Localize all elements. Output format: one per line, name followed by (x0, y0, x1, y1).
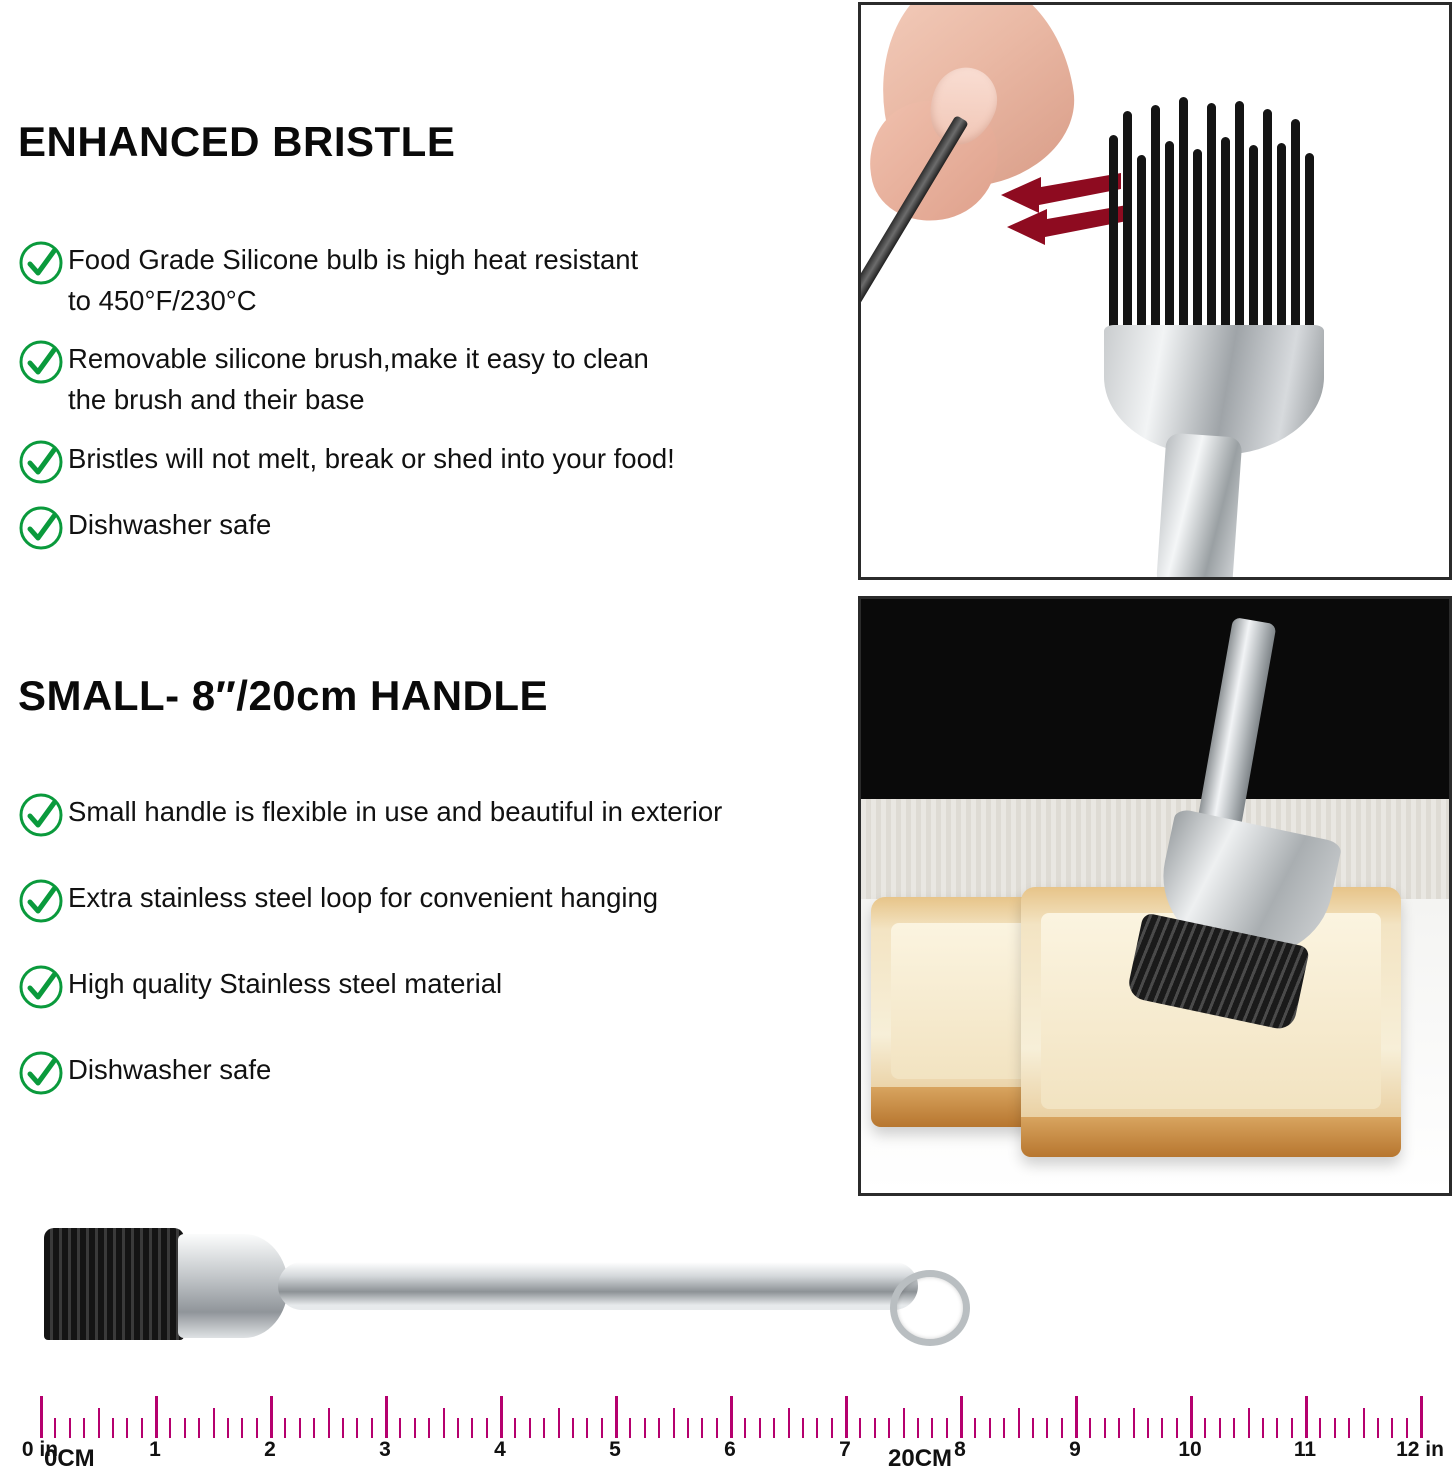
ruler-tick (1075, 1396, 1078, 1438)
hanging-loop (890, 1270, 970, 1346)
ruler-tick (917, 1418, 919, 1438)
ruler-tick (241, 1418, 243, 1438)
ruler-tick (98, 1408, 100, 1438)
stainless-handle (1156, 433, 1243, 580)
dark-background (861, 599, 1449, 809)
ruler-tick (644, 1418, 646, 1438)
ruler-tick (371, 1418, 373, 1438)
section-title-enhanced-bristle: ENHANCED BRISTLE (18, 118, 455, 166)
check-circle-icon (14, 790, 68, 840)
list-item-label: Bristles will not melt, break or shed in… (68, 437, 675, 480)
ruler-tick (673, 1408, 675, 1438)
ruler-inch-label: 11 (1294, 1438, 1316, 1462)
toast-crumb (891, 923, 1031, 1079)
list-item-label: Extra stainless steel loop for convenien… (68, 876, 658, 919)
ruler-tick (514, 1418, 516, 1438)
ruler-tick (198, 1418, 200, 1438)
silicone-bristles (1109, 93, 1317, 341)
list-item: Bristles will not melt, break or shed in… (14, 437, 675, 487)
check-circle-icon (14, 876, 68, 926)
ruler-tick (601, 1418, 603, 1438)
list-item-label: Small handle is flexible in use and beau… (68, 790, 722, 833)
ruler-tick (443, 1408, 445, 1438)
ruler-tick (1046, 1418, 1048, 1438)
ruler-tick (1147, 1418, 1149, 1438)
ruler-tick (169, 1418, 171, 1438)
ruler-tick (1276, 1418, 1278, 1438)
ruler-tick (1032, 1418, 1034, 1438)
ruler-tick (558, 1408, 560, 1438)
ruler-tick (112, 1418, 114, 1438)
feature-list-enhanced-bristle: Food Grade Silicone bulb is high heat re… (14, 238, 675, 569)
product-with-ruler: 0 in123456789101112 in 0CM 20CM (0, 1200, 1454, 1481)
ruler-tick (1334, 1418, 1336, 1438)
list-item-label: Dishwasher safe (68, 503, 271, 546)
ruler-tick (730, 1396, 733, 1438)
ruler-tick (1018, 1408, 1020, 1438)
ruler-tick (69, 1418, 71, 1438)
list-item-label: Food Grade Silicone bulb is high heat re… (68, 238, 638, 321)
ruler-tick (974, 1418, 976, 1438)
list-item: Small handle is flexible in use and beau… (14, 790, 722, 840)
stainless-brush-head (178, 1234, 288, 1338)
ruler-tick (759, 1418, 761, 1438)
ruler-tick (471, 1418, 473, 1438)
check-circle-icon (14, 337, 68, 387)
ruler-inch-label: 5 (609, 1438, 621, 1462)
ruler-tick (256, 1418, 258, 1438)
cm-label-20: 20CM (888, 1445, 952, 1473)
ruler-inch-label: 9 (1069, 1438, 1081, 1462)
section-title-small-handle: SMALL- 8″/20cm HANDLE (18, 672, 548, 720)
toast-crust (1021, 1117, 1401, 1157)
ruler-tick (572, 1418, 574, 1438)
ruler-tick (213, 1408, 215, 1438)
ruler-tick (83, 1418, 85, 1438)
list-item: Dishwasher safe (14, 503, 675, 553)
ruler-tick (155, 1396, 158, 1438)
ruler-tick (1061, 1418, 1063, 1438)
ruler-inch-label: 4 (494, 1438, 506, 1462)
ruler-tick (687, 1418, 689, 1438)
ruler-tick (385, 1396, 388, 1438)
check-circle-icon (14, 503, 68, 553)
ruler-tick (1391, 1418, 1393, 1438)
ruler-tick (586, 1418, 588, 1438)
ruler-tick (615, 1396, 618, 1438)
product-photo-brushing-toast (858, 596, 1452, 1196)
ruler-tick (1190, 1396, 1193, 1438)
ruler-tick (1363, 1408, 1365, 1438)
ruler-tick (126, 1418, 128, 1438)
ruler-inch-label: 2 (264, 1438, 276, 1462)
ruler-tick (845, 1396, 848, 1438)
ruler-tick (1133, 1408, 1135, 1438)
ruler-tick (141, 1418, 143, 1438)
ruler-tick (1089, 1418, 1091, 1438)
list-item-label: Dishwasher safe (68, 1048, 271, 1091)
ruler-tick (946, 1418, 948, 1438)
list-item-label: Removable silicone brush,make it easy to… (68, 337, 649, 420)
ruler-inch-label: 12 in (1396, 1438, 1444, 1462)
ruler-tick (931, 1418, 933, 1438)
product-photo-bristle-removal (858, 2, 1452, 580)
ruler-scale: 0 in123456789101112 in (40, 1378, 1420, 1438)
ruler-tick (227, 1418, 229, 1438)
ruler-tick (989, 1418, 991, 1438)
ruler-tick (1291, 1418, 1293, 1438)
ruler-tick (1233, 1418, 1235, 1438)
list-item: Removable silicone brush,make it easy to… (14, 337, 675, 420)
list-item: Food Grade Silicone bulb is high heat re… (14, 238, 675, 321)
ruler-tick (773, 1418, 775, 1438)
list-item: Extra stainless steel loop for convenien… (14, 876, 722, 926)
ruler-tick (1161, 1418, 1163, 1438)
silicone-bristles (44, 1228, 184, 1340)
ruler-tick (529, 1418, 531, 1438)
ruler-tick (859, 1418, 861, 1438)
ruler-tick (428, 1418, 430, 1438)
ruler-tick (888, 1418, 890, 1438)
check-circle-icon (14, 962, 68, 1012)
ruler-tick (716, 1418, 718, 1438)
ruler-tick (1003, 1418, 1005, 1438)
ruler-tick (270, 1396, 273, 1438)
check-circle-icon (14, 238, 68, 288)
ruler-tick (543, 1418, 545, 1438)
ruler-tick (299, 1418, 301, 1438)
list-item: Dishwasher safe (14, 1048, 722, 1098)
ruler-tick (1406, 1418, 1408, 1438)
stainless-handle (278, 1262, 918, 1310)
ruler-tick (1118, 1418, 1120, 1438)
ruler-tick (457, 1418, 459, 1438)
ruler-tick (701, 1418, 703, 1438)
ruler-tick (313, 1418, 315, 1438)
ruler-tick (328, 1408, 330, 1438)
check-circle-icon (14, 1048, 68, 1098)
cm-label-0: 0CM (44, 1445, 95, 1473)
ruler-tick (40, 1396, 43, 1438)
ruler-tick (414, 1418, 416, 1438)
ruler-tick (1305, 1396, 1308, 1438)
features-text-column: ENHANCED BRISTLE Food Grade Silicone bul… (0, 0, 860, 1200)
ruler-tick (1176, 1418, 1178, 1438)
ruler-tick (342, 1418, 344, 1438)
ruler-tick (486, 1418, 488, 1438)
ruler-tick (629, 1418, 631, 1438)
ruler-tick (356, 1418, 358, 1438)
ruler-inch-label: 10 (1178, 1438, 1201, 1462)
ruler-tick (1248, 1408, 1250, 1438)
ruler-tick (1319, 1418, 1321, 1438)
list-item-label: High quality Stainless steel material (68, 962, 502, 1005)
list-item: High quality Stainless steel material (14, 962, 722, 1012)
ruler-tick (658, 1418, 660, 1438)
ruler-tick (399, 1418, 401, 1438)
check-circle-icon (14, 437, 68, 487)
ruler-inch-label: 3 (379, 1438, 391, 1462)
feature-list-small-handle: Small handle is flexible in use and beau… (14, 790, 722, 1134)
ruler-inch-label: 1 (149, 1438, 161, 1462)
ruler-tick (1377, 1418, 1379, 1438)
ruler-tick (54, 1418, 56, 1438)
ruler-inch-label: 7 (839, 1438, 851, 1462)
ruler-tick (744, 1418, 746, 1438)
ruler-tick (284, 1418, 286, 1438)
ruler-tick (1204, 1418, 1206, 1438)
ruler-inch-label: 8 (954, 1438, 966, 1462)
ruler-tick (500, 1396, 503, 1438)
ruler-inch-label: 6 (724, 1438, 736, 1462)
ruler-tick (1262, 1418, 1264, 1438)
ruler-tick (1219, 1418, 1221, 1438)
ruler-tick (960, 1396, 963, 1438)
ruler-tick (903, 1408, 905, 1438)
ruler-tick (802, 1418, 804, 1438)
ruler-tick (184, 1418, 186, 1438)
ruler-tick (831, 1418, 833, 1438)
ruler-tick (788, 1408, 790, 1438)
ruler-tick (874, 1418, 876, 1438)
ruler-tick (1420, 1396, 1423, 1438)
ruler-tick (1104, 1418, 1106, 1438)
ruler-tick (816, 1418, 818, 1438)
ruler-tick (1348, 1418, 1350, 1438)
